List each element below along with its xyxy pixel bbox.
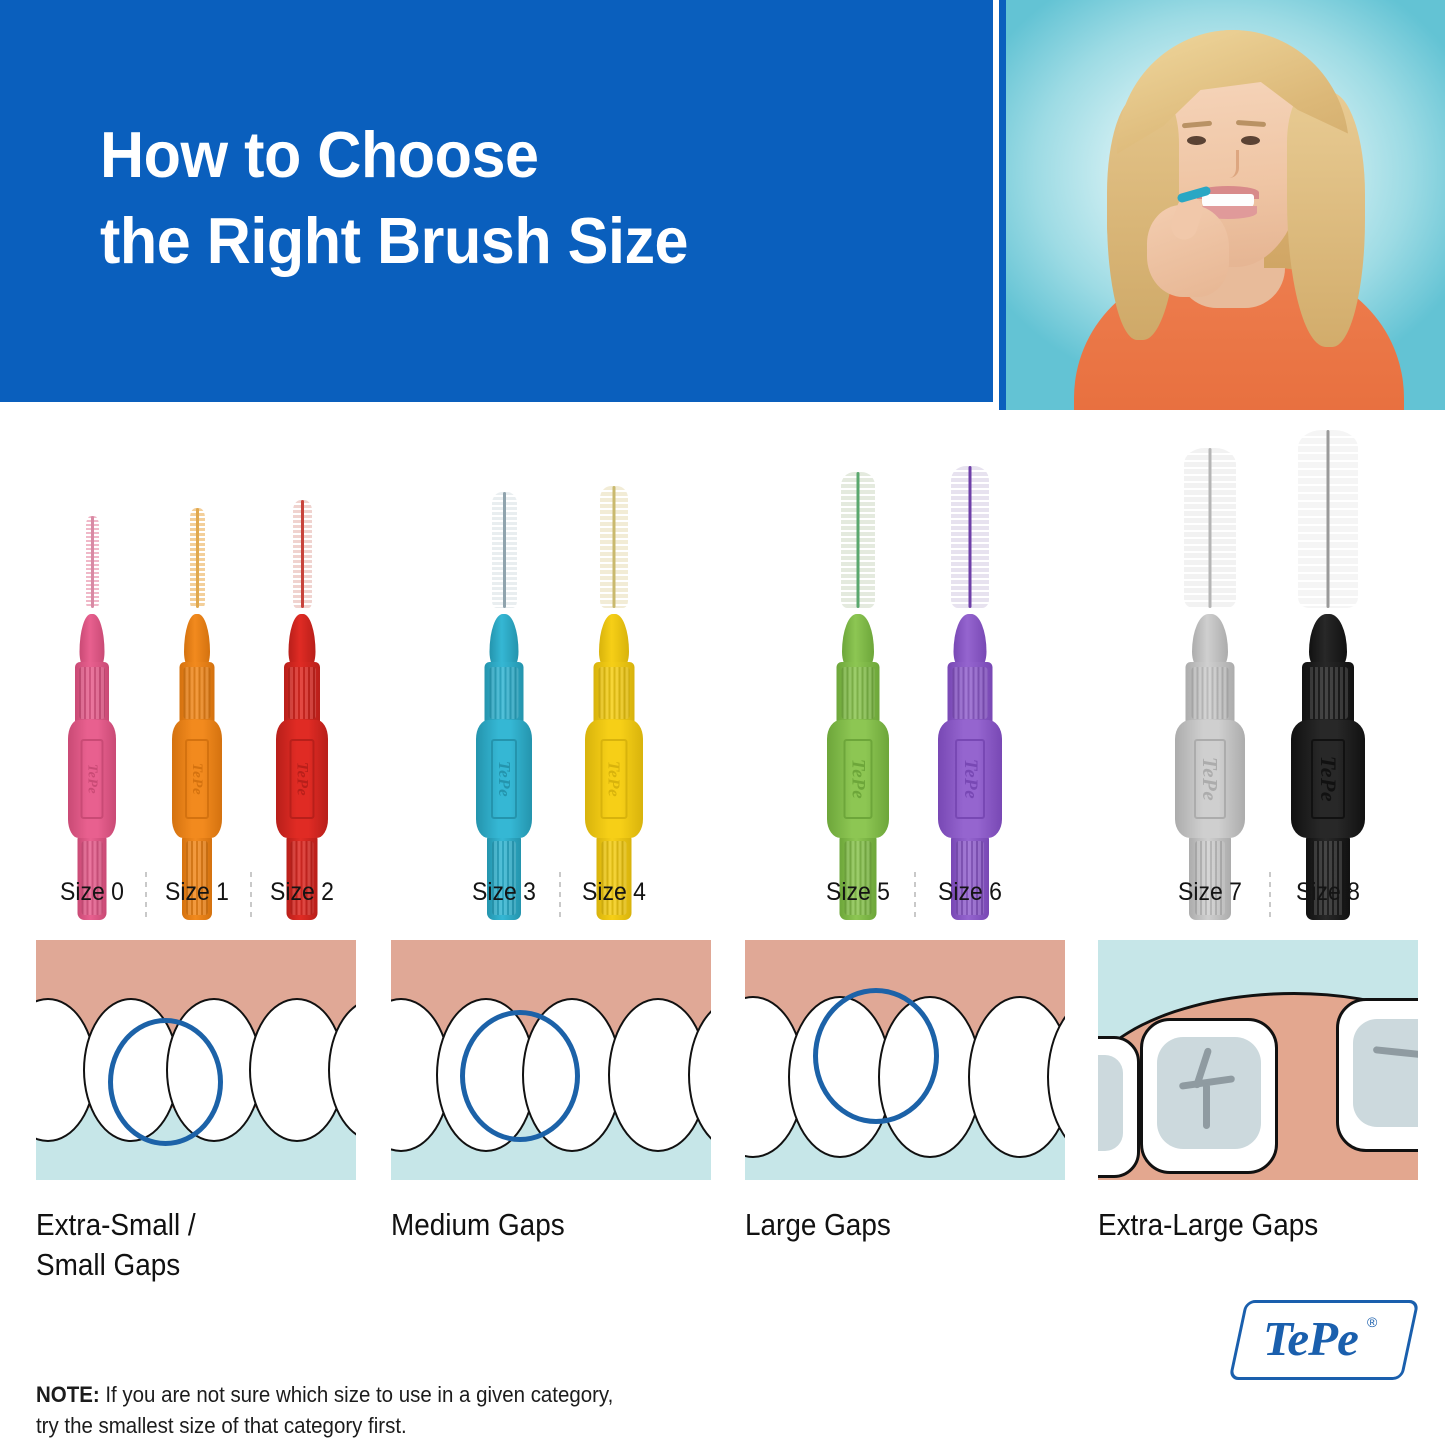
molar-fissure	[1203, 1083, 1210, 1129]
brush-handle: TePe	[476, 614, 532, 920]
handle-collar	[1186, 662, 1235, 724]
brush-handle: TePe	[276, 614, 328, 920]
category-label-2: Large Gaps	[745, 1205, 891, 1245]
handle-grip: TePe	[827, 720, 889, 838]
category-label-1: Medium Gaps	[391, 1205, 565, 1245]
embossed-tepe-logo: TePe	[185, 739, 209, 819]
brush-bristles	[600, 486, 628, 608]
handle-neck	[1309, 614, 1347, 668]
embossed-tepe-logo: TePe	[290, 739, 315, 819]
large-gaps-diagram	[745, 940, 1065, 1180]
embossed-tepe-logo: TePe	[1194, 739, 1226, 819]
molar-tooth	[1140, 1018, 1278, 1174]
medium-gaps-diagram	[391, 940, 711, 1180]
size-divider	[250, 872, 252, 918]
brush-lineup: TePeTePeTePeTePeTePeTePeTePeTePeTePe	[0, 420, 1445, 920]
brush-handle: TePe	[1175, 614, 1245, 920]
size-divider	[1269, 872, 1271, 918]
highlight-circle	[108, 1018, 223, 1146]
handle-grip: TePe	[68, 720, 116, 838]
bristle-wire	[196, 508, 199, 608]
size-label-2: Size 2	[247, 878, 357, 907]
highlight-circle	[460, 1010, 580, 1142]
brush-bristles	[86, 516, 99, 608]
nose	[1220, 150, 1239, 178]
brush-bristles	[492, 492, 517, 608]
note-prefix: NOTE:	[36, 1382, 100, 1407]
header-banner: How to Choose the Right Brush Size	[0, 0, 1445, 410]
embossed-tepe-logo: TePe	[1311, 739, 1345, 819]
embossed-tepe-logo: TePe	[844, 739, 873, 819]
handle-grip: TePe	[1291, 720, 1365, 838]
handle-neck	[599, 614, 629, 668]
interdental-brush: TePe	[32, 516, 152, 920]
brush-handle: TePe	[585, 614, 643, 920]
handle-neck	[289, 614, 316, 668]
logo-wordmark: TePe	[1263, 1310, 1358, 1367]
handle-grip: TePe	[476, 720, 532, 838]
size-label-1: Size 1	[142, 878, 252, 907]
size-label-8: Size 8	[1273, 878, 1383, 907]
interdental-brush: TePe	[798, 472, 918, 920]
brush-bristles	[841, 472, 875, 608]
handle-neck	[842, 614, 874, 668]
eye-right	[1241, 136, 1260, 145]
bristle-wire	[503, 492, 506, 608]
bristle-wire	[613, 486, 616, 608]
embossed-tepe-logo: TePe	[955, 739, 985, 819]
handle-collar	[180, 662, 215, 724]
registered-trademark-icon: ®	[1367, 1314, 1377, 1330]
handle-grip: TePe	[1175, 720, 1245, 838]
hero-photo	[999, 0, 1445, 410]
molar-enamel	[1353, 1019, 1418, 1127]
bristle-wire	[969, 466, 972, 608]
molar-gaps-diagram	[1098, 940, 1418, 1180]
molar-tooth	[1098, 1036, 1140, 1178]
handle-grip: TePe	[585, 720, 643, 838]
brush-bristles	[1298, 430, 1358, 608]
interdental-brush: TePe	[1268, 430, 1388, 920]
size-label-3: Size 3	[449, 878, 559, 907]
page-title: How to Choose the Right Brush Size	[100, 112, 688, 285]
category-label-0: Extra-Small / Small Gaps	[36, 1205, 196, 1284]
size-label-7: Size 7	[1155, 878, 1265, 907]
molar-enamel	[1098, 1055, 1123, 1151]
eye-left	[1187, 136, 1206, 145]
brush-bristles	[190, 508, 205, 608]
molar-tooth	[1336, 998, 1418, 1152]
handle-collar	[75, 662, 109, 724]
gap-diagrams	[0, 940, 1445, 1190]
handle-neck	[1192, 614, 1228, 668]
interdental-brush: TePe	[242, 500, 362, 920]
handle-collar	[837, 662, 880, 724]
handle-neck	[954, 614, 987, 668]
brush-handle: TePe	[938, 614, 1002, 920]
bristle-wire	[301, 500, 304, 608]
interdental-brush: TePe	[910, 466, 1030, 920]
photo-edge-stripe	[999, 0, 1006, 410]
handle-collar	[485, 662, 524, 724]
interdental-brush: TePe	[444, 492, 564, 920]
handle-neck	[80, 614, 105, 668]
bristle-wire	[1327, 430, 1330, 608]
size-label-6: Size 6	[915, 878, 1025, 907]
handle-grip: TePe	[172, 720, 222, 838]
handle-neck	[184, 614, 210, 668]
embossed-tepe-logo: TePe	[491, 739, 517, 819]
brush-bristles	[951, 466, 989, 608]
header-blue-panel: How to Choose the Right Brush Size	[0, 0, 993, 402]
bristle-wire	[857, 472, 860, 608]
tight-gaps-diagram	[36, 940, 356, 1180]
brush-handle: TePe	[1291, 614, 1365, 920]
note-text: NOTE: If you are not sure which size to …	[36, 1348, 817, 1442]
size-divider	[145, 872, 147, 918]
size-divider	[559, 872, 561, 918]
size-label-5: Size 5	[803, 878, 913, 907]
category-label-3: Extra-Large Gaps	[1098, 1205, 1318, 1245]
interdental-brush: TePe	[1150, 448, 1270, 920]
handle-grip: TePe	[276, 720, 328, 838]
handle-collar	[284, 662, 320, 724]
brush-bristles	[293, 500, 312, 608]
brush-handle: TePe	[827, 614, 889, 920]
bristle-wire	[91, 516, 94, 608]
note-body: If you are not sure which size to use in…	[36, 1382, 613, 1438]
size-label-0: Size 0	[37, 878, 147, 907]
size-divider	[914, 872, 916, 918]
brush-bristles	[1184, 448, 1236, 608]
embossed-tepe-logo: TePe	[601, 739, 628, 819]
brush-handle: TePe	[172, 614, 222, 920]
handle-grip: TePe	[938, 720, 1002, 838]
handle-collar	[1302, 662, 1354, 724]
size-label-4: Size 4	[559, 878, 669, 907]
handle-collar	[594, 662, 635, 724]
interdental-brush: TePe	[554, 486, 674, 920]
tepe-logo: TePe ®	[1237, 1300, 1409, 1378]
handle-neck	[490, 614, 519, 668]
embossed-tepe-logo: TePe	[81, 739, 104, 819]
highlight-circle	[813, 988, 939, 1124]
brush-handle: TePe	[68, 614, 116, 920]
bristle-wire	[1209, 448, 1212, 608]
handle-collar	[948, 662, 993, 724]
interdental-brush: TePe	[137, 508, 257, 920]
